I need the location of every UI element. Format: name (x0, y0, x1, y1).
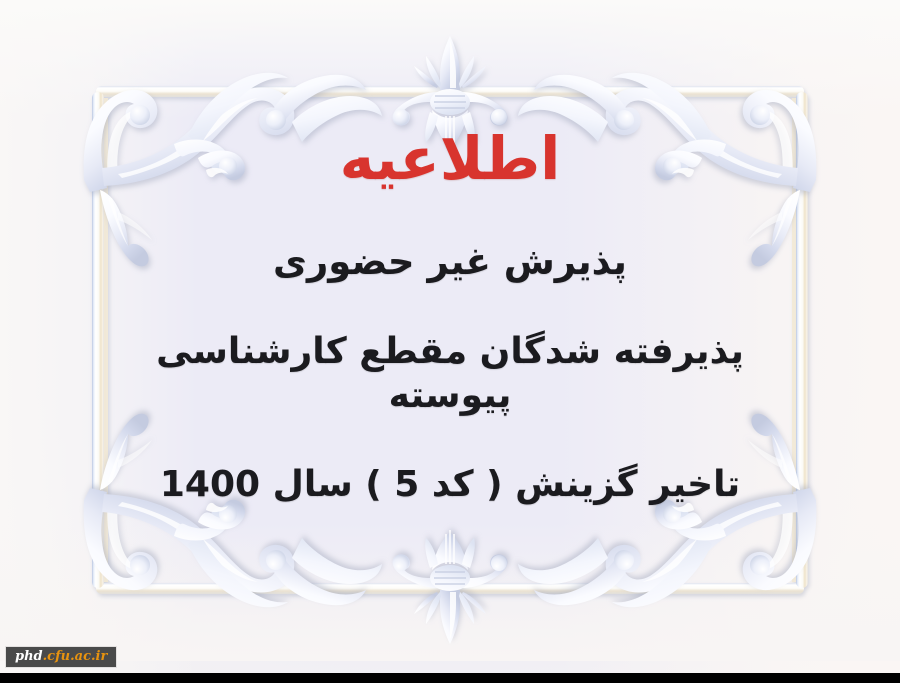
site-watermark: phd.cfu.ac.ir (6, 647, 116, 667)
watermark-suffix: .cfu.ac.ir (43, 649, 108, 664)
background-bottom-fade (0, 521, 900, 661)
watermark-prefix: phd (15, 649, 43, 664)
announcement-line-3: تاخیر گزینش ( کد 5 ) سال 1400 (96, 463, 804, 506)
background-top-fade (0, 0, 900, 120)
announcement-content: اطلاعیه پذیرش غیر حضوری پذیرفته شدگان مق… (96, 126, 804, 506)
announcement-poster: اطلاعیه پذیرش غیر حضوری پذیرفته شدگان مق… (0, 0, 900, 683)
announcement-line-2: پذیرفته شدگان مقطع کارشناسی پیوسته (96, 330, 804, 416)
bottom-black-bar (0, 673, 900, 683)
announcement-line-1: پذیرش غیر حضوری (96, 240, 804, 284)
page-title: اطلاعیه (96, 126, 804, 192)
